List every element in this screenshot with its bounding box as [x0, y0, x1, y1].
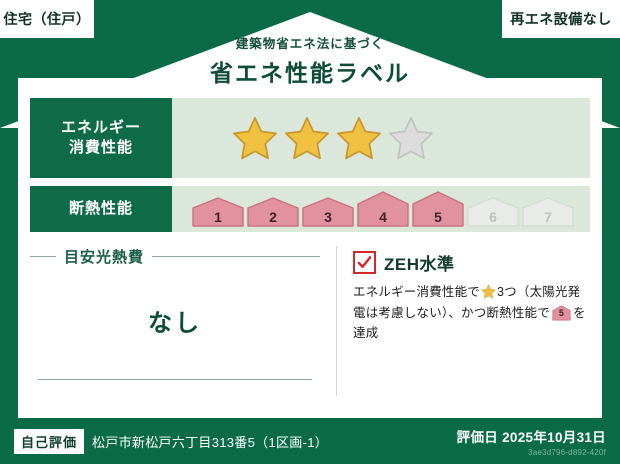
energy-performance-label: エネルギー 消費性能	[30, 98, 172, 178]
insulation-level-value: 4	[357, 209, 409, 225]
zeh-desc-part1: エネルギー消費性能で	[353, 285, 480, 299]
energy-performance-label-line2: 消費性能	[69, 138, 133, 158]
inline-insulation-badge: 5	[552, 305, 571, 321]
building-type-tag: 住宅（住戸）	[0, 0, 94, 38]
energy-cost-bottom-rule	[38, 379, 312, 380]
energy-performance-label-line1: エネルギー	[61, 118, 141, 138]
energy-cost-value: なし	[30, 303, 320, 338]
property-address: 松戸市新松戸六丁目313番5（1区画-1）	[92, 432, 328, 451]
insulation-level-scale: 1234567	[192, 191, 574, 227]
zeh-panel: ZEH水準 エネルギー消費性能で3つ（太陽光発電は考慮しない）、かつ断熱性能で5…	[353, 246, 590, 396]
zeh-checkbox[interactable]	[353, 251, 376, 274]
label-content: エネルギー 消費性能 断熱性能 1234567 目安光熱費	[30, 98, 590, 396]
star-filled-icon	[232, 115, 278, 161]
renewable-energy-tag: 再エネ設備なし	[502, 0, 620, 38]
insulation-level-3: 3	[302, 197, 354, 227]
insulation-level-value: 1	[192, 209, 244, 225]
rule-line-right	[152, 256, 320, 257]
insulation-level-5: 5	[412, 191, 464, 227]
energy-performance-row: エネルギー 消費性能	[30, 98, 590, 178]
insulation-level-value: 7	[522, 209, 574, 225]
zeh-title: ZEH水準	[384, 250, 455, 275]
title-subtitle: 建築物省エネ法に基づく	[0, 36, 620, 52]
evaluation-date: 評価日 2025年10月31日	[457, 430, 606, 445]
insulation-level-1: 1	[192, 197, 244, 227]
inline-insulation-badge-value: 5	[552, 305, 571, 321]
energy-performance-label: 住宅（住戸） 再エネ設備なし 建築物省エネ法に基づく 省エネ性能ラベル エネルギ…	[0, 0, 620, 464]
insulation-level-4: 4	[357, 191, 409, 227]
energy-cost-title: 目安光熱費	[64, 246, 144, 267]
energy-cost-heading: 目安光熱費	[30, 246, 320, 267]
building-type-text: 住宅（住戸）	[4, 9, 91, 29]
label-footer: 自己評価 松戸市新松戸六丁目313番5（1区画-1） 評価日 2025年10月3…	[0, 418, 620, 464]
document-id: 3ae3d796-d892-420f	[457, 448, 606, 457]
insulation-level-value: 3	[302, 209, 354, 225]
insulation-performance-row: 断熱性能 1234567	[30, 186, 590, 232]
energy-cost-panel: 目安光熱費 なし	[30, 246, 320, 396]
insulation-level-2: 2	[247, 197, 299, 227]
self-evaluation-badge: 自己評価	[14, 429, 84, 454]
insulation-level-7: 7	[522, 197, 574, 227]
star-empty-icon	[388, 115, 434, 161]
energy-performance-value	[172, 98, 590, 178]
insulation-level-6: 6	[467, 197, 519, 227]
label-title-block: 建築物省エネ法に基づく 省エネ性能ラベル	[0, 36, 620, 88]
insulation-level-value: 2	[247, 209, 299, 225]
star-filled-icon	[284, 115, 330, 161]
section-divider	[336, 246, 337, 396]
check-icon	[357, 255, 372, 270]
rule-line-left	[30, 256, 56, 257]
star-rating	[232, 115, 434, 161]
insulation-performance-label-text: 断熱性能	[69, 199, 133, 219]
footer-right-block: 評価日 2025年10月31日 3ae3d796-d892-420f	[457, 426, 606, 457]
zeh-description: エネルギー消費性能で3つ（太陽光発電は考慮しない）、かつ断熱性能で5を達成	[353, 282, 590, 344]
star-filled-icon	[336, 115, 382, 161]
insulation-level-value: 5	[412, 209, 464, 225]
lower-section: 目安光熱費 なし ZEH水準 エネルギー消費性能で3つ（太陽	[30, 246, 590, 396]
inline-star-icon	[481, 284, 496, 299]
page-title: 省エネ性能ラベル	[0, 54, 620, 88]
insulation-level-value: 6	[467, 209, 519, 225]
insulation-performance-value: 1234567	[172, 186, 590, 232]
insulation-performance-label: 断熱性能	[30, 186, 172, 232]
renewable-energy-text: 再エネ設備なし	[510, 9, 612, 29]
zeh-heading: ZEH水準	[353, 250, 590, 275]
